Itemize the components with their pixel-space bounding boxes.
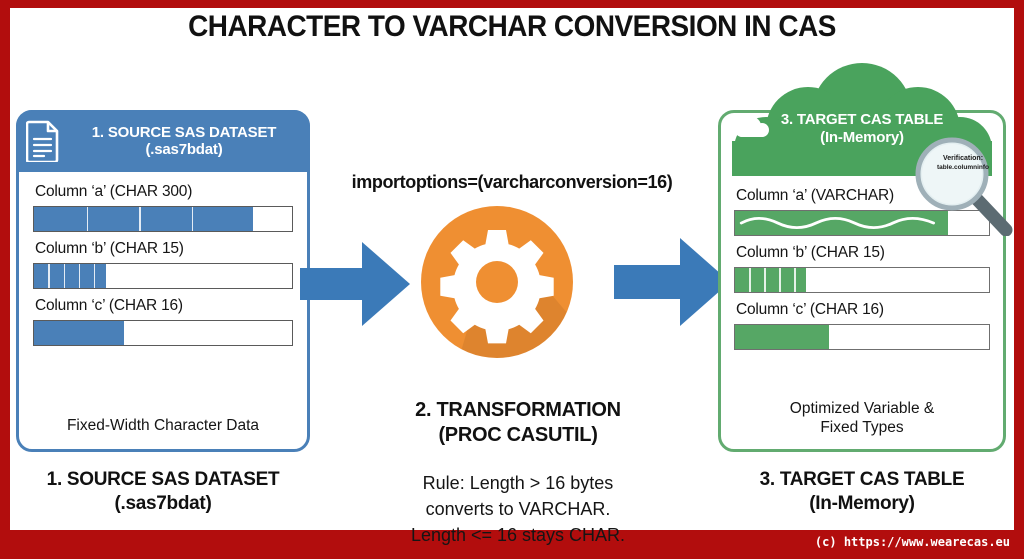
source-column-row: Column ‘b’ (CHAR 15)	[33, 240, 293, 289]
source-column-label: Column ‘b’ (CHAR 15)	[35, 240, 293, 258]
magnifier-icon	[910, 132, 1014, 236]
bar-fill	[34, 264, 106, 288]
source-column-bar	[33, 263, 293, 289]
source-header-text: 1. SOURCE SAS DATASET (.sas7bdat)	[66, 124, 302, 158]
cloud-icon	[732, 117, 772, 139]
bar-fill	[34, 321, 124, 345]
transformation-line1: 2. TRANSFORMATION	[415, 399, 621, 421]
rule-line2: converts to VARCHAR.	[426, 499, 611, 519]
target-foot-caption: 3. TARGET CAS TABLE (In-Memory)	[700, 468, 1024, 516]
source-panel-caption: Fixed-Width Character Data	[19, 416, 307, 435]
target-column-bar	[734, 267, 990, 293]
source-column-bar	[33, 320, 293, 346]
watermark-attribution: (c) https://www.wearecas.eu	[815, 535, 1010, 549]
target-foot-line2: (In-Memory)	[809, 493, 914, 514]
document-icon	[26, 120, 60, 162]
source-header-line2: (.sas7bdat)	[146, 141, 223, 158]
target-column-row: Column ‘c’ (CHAR 16)	[734, 301, 990, 350]
target-column-bar	[734, 324, 990, 350]
transformation-line2: (PROC CASUTIL)	[438, 424, 597, 446]
infographic-canvas: (c) https://www.wearecas.eu CHARACTER TO…	[0, 0, 1024, 559]
source-header-line1: 1. SOURCE SAS DATASET	[92, 124, 276, 141]
rule-line1: Rule: Length > 16 bytes	[423, 473, 614, 493]
page-title: CHARACTER TO VARCHAR CONVERSION IN CAS	[36, 10, 988, 44]
bar-fill	[735, 268, 806, 292]
target-column-label: Column ‘b’ (CHAR 15)	[736, 244, 990, 262]
source-foot-line1: 1. SOURCE SAS DATASET	[47, 469, 280, 490]
target-foot-line1: 3. TARGET CAS TABLE	[760, 469, 965, 490]
border-right	[1014, 8, 1024, 530]
bar-fill	[735, 325, 829, 349]
rule-line3: Length <= 16 stays CHAR.	[411, 525, 625, 545]
source-column-label: Column ‘c’ (CHAR 16)	[35, 297, 293, 315]
target-caption-line1: Optimized Variable &	[790, 400, 934, 417]
target-caption-line2: Fixed Types	[820, 419, 903, 436]
arrow-right-icon-left	[300, 238, 410, 330]
arrow-right-icon-right	[614, 234, 730, 330]
target-panel-caption: Optimized Variable & Fixed Types	[721, 399, 1003, 437]
source-panel: 1. SOURCE SAS DATASET (.sas7bdat) Column…	[16, 110, 310, 452]
source-foot-line2: (.sas7bdat)	[114, 493, 211, 514]
source-column-row: Column ‘a’ (CHAR 300)	[33, 183, 293, 232]
gear-icon	[399, 206, 595, 358]
border-top	[0, 0, 1024, 8]
source-foot-caption: 1. SOURCE SAS DATASET (.sas7bdat)	[0, 468, 326, 516]
import-options-code: importoptions=(varcharconversion=16)	[310, 172, 714, 193]
source-column-bar	[33, 206, 293, 232]
source-column-label: Column ‘a’ (CHAR 300)	[35, 183, 293, 201]
target-column-row: Column ‘b’ (CHAR 15)	[734, 244, 990, 293]
bar-fill	[34, 207, 253, 231]
source-panel-header: 1. SOURCE SAS DATASET (.sas7bdat)	[16, 110, 310, 172]
border-left	[0, 8, 10, 530]
conversion-rule-text: Rule: Length > 16 bytes converts to VARC…	[350, 470, 686, 548]
source-column-row: Column ‘c’ (CHAR 16)	[33, 297, 293, 346]
transformation-title: 2. TRANSFORMATION (PROC CASUTIL)	[338, 398, 698, 448]
source-column-list: Column ‘a’ (CHAR 300) Column ‘b’ (CHAR 1…	[19, 175, 307, 352]
target-column-label: Column ‘c’ (CHAR 16)	[736, 301, 990, 319]
